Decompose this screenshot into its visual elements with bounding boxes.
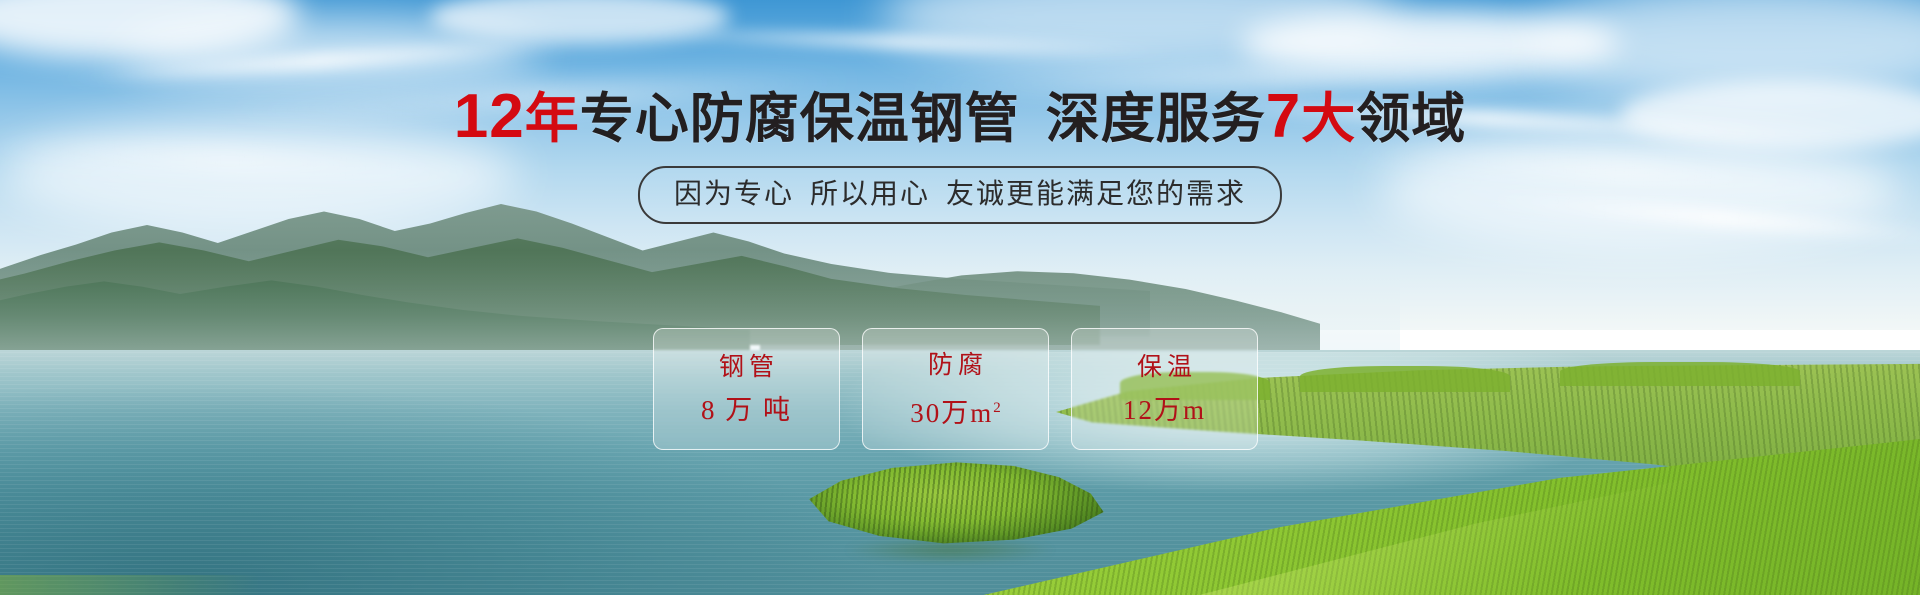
subtitle-segment-2: 所以用心 bbox=[810, 178, 930, 209]
subtitle-segment-1: 因为专心 bbox=[674, 178, 794, 209]
stat-card-value: 12万m bbox=[1123, 395, 1206, 425]
stat-card-title: 保温 bbox=[1132, 353, 1197, 381]
left-bank-strip bbox=[0, 575, 260, 595]
island-reflection bbox=[810, 540, 1090, 576]
headline-years-unit: 年 bbox=[525, 89, 580, 149]
stat-card-insulation[interactable]: 保温 12万m bbox=[1071, 328, 1258, 450]
headline-main-text: 专心防腐保温钢管 bbox=[580, 89, 1020, 149]
headline-fields-number: 7 bbox=[1266, 82, 1301, 151]
subtitle-pill: 因为专心所以用心友诚更能满足您的需求 bbox=[638, 166, 1282, 224]
stat-card-value-text: 30万m bbox=[910, 398, 993, 428]
stat-card-title: 防腐 bbox=[923, 351, 988, 379]
stat-card-value-superscript: 2 bbox=[993, 400, 1001, 416]
banner-headline: 12年专心防腐保温钢管深度服务7大领域 bbox=[0, 86, 1920, 150]
reeds-cluster bbox=[1300, 366, 1510, 392]
stat-card-group: 钢管 8 万 吨 防腐 30万m2 保温 12万m bbox=[653, 328, 1258, 450]
stat-card-value: 30万m2 bbox=[910, 393, 1001, 428]
stat-card-value-text: 12万m bbox=[1123, 395, 1206, 425]
stat-card-anticorrosion[interactable]: 防腐 30万m2 bbox=[862, 328, 1049, 450]
reeds-cluster bbox=[1560, 362, 1800, 386]
hero-banner: 12年专心防腐保温钢管深度服务7大领域 因为专心所以用心友诚更能满足您的需求 钢… bbox=[0, 0, 1920, 595]
stat-card-title: 钢管 bbox=[714, 353, 779, 381]
stat-card-value-text: 8 万 吨 bbox=[701, 395, 792, 425]
headline-fields-text: 领域 bbox=[1356, 89, 1466, 149]
subtitle-segment-3: 友诚更能满足您的需求 bbox=[946, 178, 1246, 209]
headline-years-number: 12 bbox=[454, 82, 525, 151]
headline-service-text: 深度服务 bbox=[1046, 89, 1266, 149]
stat-card-steel-pipe[interactable]: 钢管 8 万 吨 bbox=[653, 328, 840, 450]
stat-card-value: 8 万 吨 bbox=[701, 395, 792, 425]
headline-fields-unit: 大 bbox=[1301, 89, 1356, 149]
